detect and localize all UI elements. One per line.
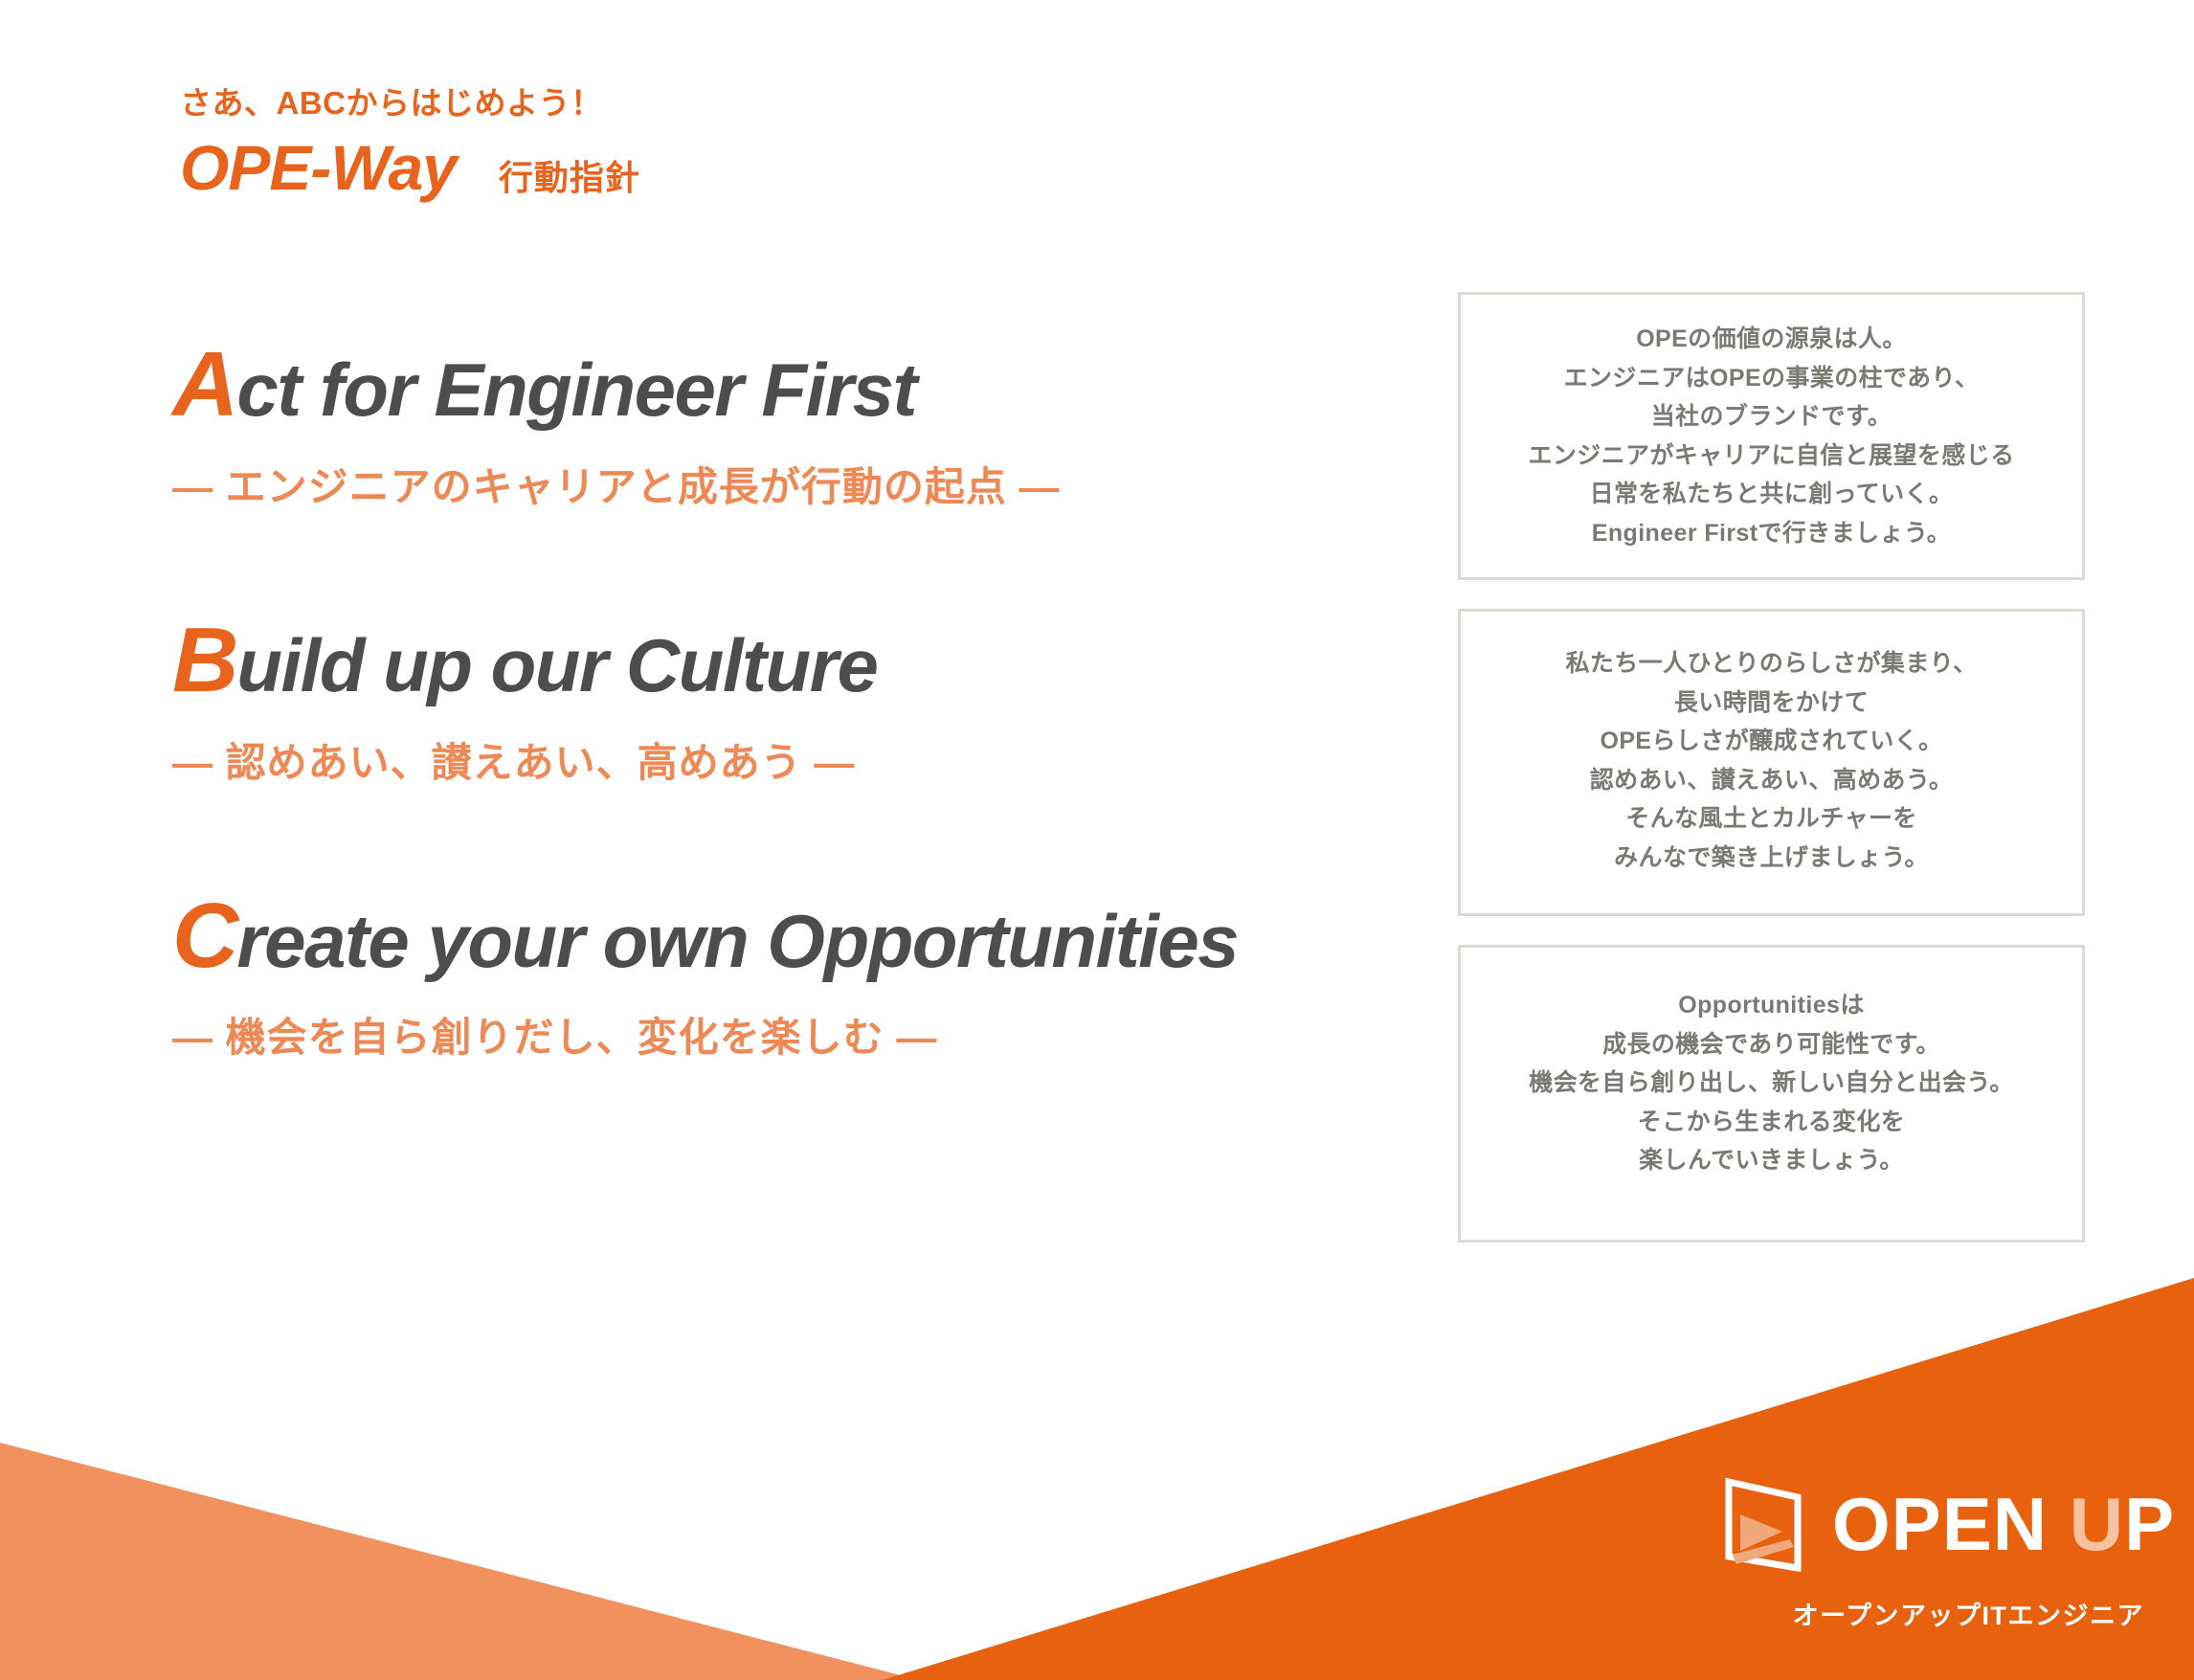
brand-logo-row: OPEN UP — [1723, 1472, 2144, 1576]
principle-rest-b: uild up our Culture — [236, 623, 877, 707]
brand-logo: OPEN UP オープンアップITエンジニア — [1723, 1472, 2144, 1632]
principle-subtitle-c: — 機会を自ら創りだし、変化を楽しむ — — [172, 1005, 1417, 1064]
ope-way-logotype: OPE-Way — [180, 136, 457, 199]
note-line: OPEの価値の源泉は人。 — [1478, 320, 2065, 359]
note-line: エンジニアがキャリアに自信と展望を感じる — [1478, 437, 2065, 476]
principle-subtitle-a: — エンジニアのキャリアと成長が行動の起点 — — [172, 455, 1417, 513]
note-line: そこから生まれる変化を — [1478, 1103, 2065, 1142]
header-subtitle: 行動指針 — [499, 150, 640, 200]
note-line: Engineer Firstで行きましょう。 — [1478, 514, 2065, 553]
header-title-row: OPE-Way 行動指針 — [180, 136, 640, 200]
note-box-act: OPEの価値の源泉は人。 エンジニアはOPEの事業の柱であり、 当社のブランドで… — [1458, 292, 2085, 580]
note-box-list: OPEの価値の源泉は人。 エンジニアはOPEの事業の柱であり、 当社のブランドで… — [1458, 292, 2085, 1243]
note-box-create: Opportunitiesは 成長の機会であり可能性です。 機会を自ら創り出し、… — [1458, 945, 2085, 1243]
principle-title-c: Create your own Opportunities — [172, 888, 1417, 985]
principle-item-c: Create your own Opportunities — 機会を自ら創りだ… — [172, 888, 1417, 1064]
header-kicker: さあ、ABCからはじめよう！ — [180, 86, 640, 121]
note-line: 認めあい、讃えあい、高めあう。 — [1478, 761, 2065, 800]
note-line: 成長の機会であり可能性です。 — [1478, 1025, 2065, 1064]
principle-item-b: Build up our Culture — 認めあい、讃えあい、高めあう — — [172, 613, 1417, 789]
brand-word-p: P — [2124, 1482, 2175, 1566]
note-line: エンジニアはOPEの事業の柱であり、 — [1478, 359, 2065, 398]
note-line: Opportunitiesは — [1478, 986, 2065, 1025]
principles-list: Act for Engineer First — エンジニアのキャリアと成長が行… — [172, 337, 1417, 1064]
principle-rest-c: reate your own Opportunities — [236, 899, 1238, 983]
principle-title-a: Act for Engineer First — [172, 337, 1417, 434]
principle-title-b: Build up our Culture — [172, 613, 1417, 709]
note-line: 楽しんでいきましょう。 — [1478, 1141, 2065, 1180]
brand-word-open: OPEN — [1832, 1482, 2048, 1566]
note-line: OPEらしさが醸成されていく。 — [1478, 722, 2065, 761]
principle-initial-c: C — [172, 885, 236, 987]
decoration-triangle-left — [0, 1443, 919, 1680]
note-line: そんな風土とカルチャーを — [1478, 799, 2065, 839]
slide-header: さあ、ABCからはじめよう！ OPE-Way 行動指針 — [180, 86, 640, 200]
note-line: 機会を自ら創り出し、新しい自分と出会う。 — [1478, 1064, 2065, 1103]
note-line: 日常を私たちと共に創っていく。 — [1478, 475, 2065, 514]
open-door-icon — [1723, 1472, 1815, 1576]
principle-initial-b: B — [172, 609, 236, 711]
note-line: 当社のブランドです。 — [1478, 397, 2065, 437]
note-box-build: 私たち一人ひとりのらしさが集まり、 長い時間をかけて OPEらしさが醸成されてい… — [1458, 609, 2085, 916]
principle-rest-a: ct for Engineer First — [236, 347, 916, 432]
principle-initial-a: A — [172, 333, 236, 436]
principle-item-a: Act for Engineer First — エンジニアのキャリアと成長が行… — [172, 337, 1417, 513]
brand-wordmark: OPEN UP — [1832, 1487, 2175, 1561]
principle-subtitle-b: — 認めあい、讃えあい、高めあう — — [172, 730, 1417, 789]
note-line: みんなで築き上げましょう。 — [1478, 839, 2065, 878]
slide-canvas: さあ、ABCからはじめよう！ OPE-Way 行動指針 Act for Engi… — [0, 0, 2194, 1680]
brand-tagline: オープンアップITエンジニア — [1723, 1595, 2144, 1632]
note-line: 私たち一人ひとりのらしさが集まり、 — [1478, 644, 2065, 683]
note-line: 長い時間をかけて — [1478, 683, 2065, 723]
brand-word-u: U — [2070, 1482, 2124, 1566]
